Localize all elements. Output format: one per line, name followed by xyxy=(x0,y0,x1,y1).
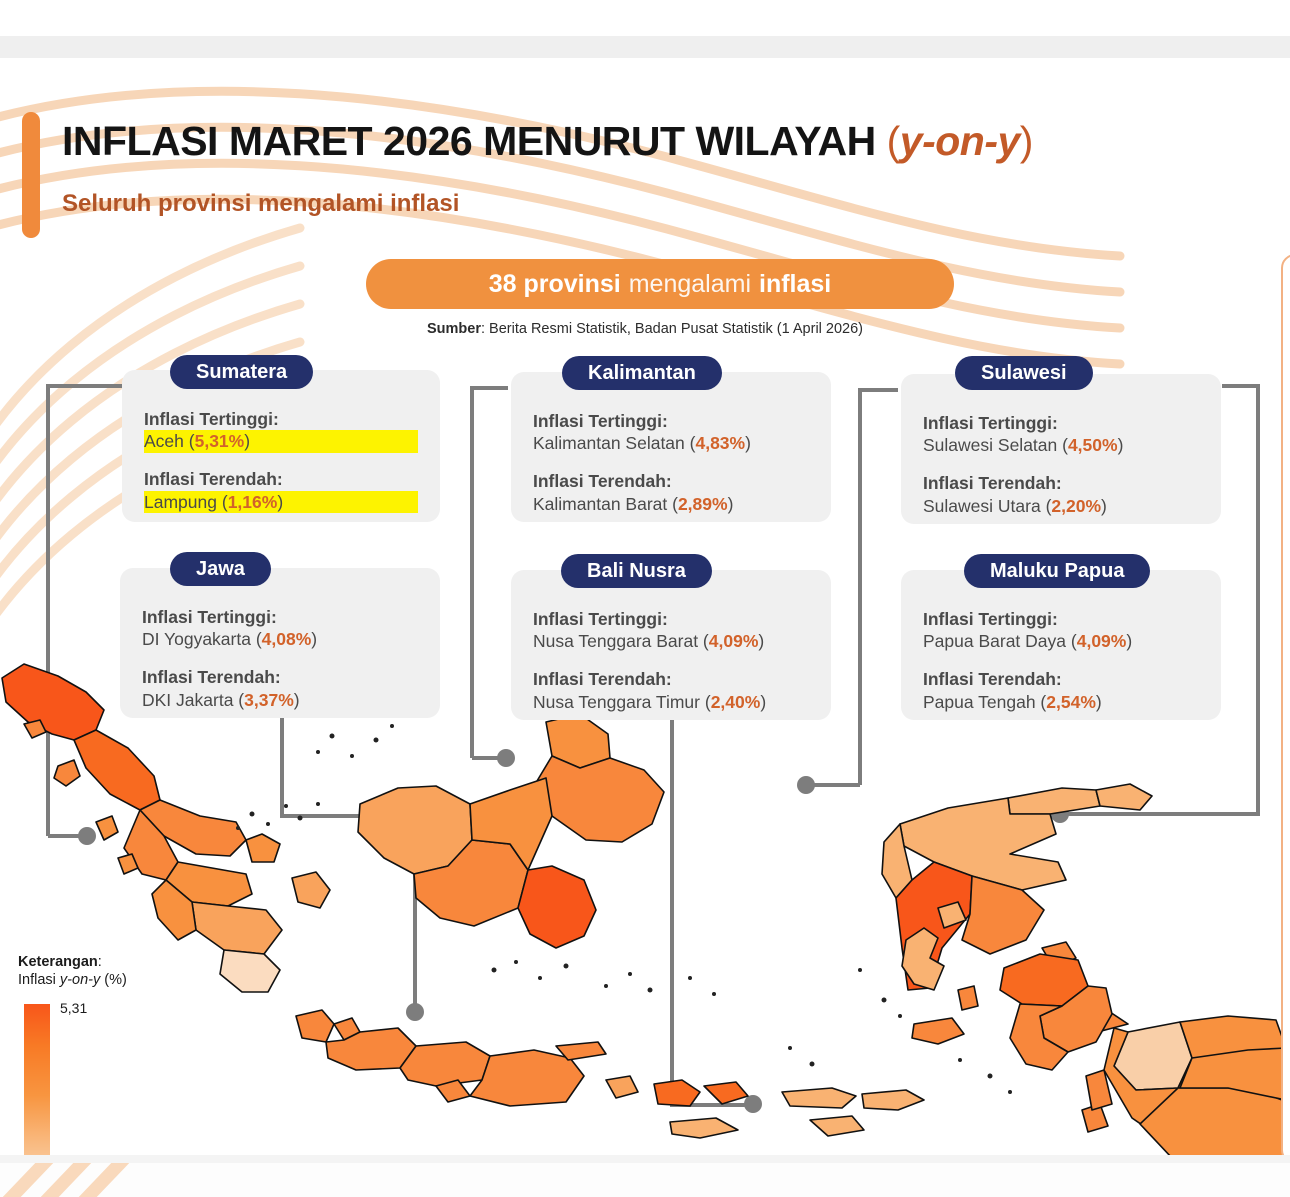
region-card-kalimantan[interactable]: Inflasi Tertinggi: Kalimantan Selatan (4… xyxy=(511,372,831,522)
sulawesi-lowest-label: Inflasi Terendah: xyxy=(923,472,1199,494)
map-province-ntt-1 xyxy=(782,1088,856,1108)
kalimantan-highest-value: Kalimantan Selatan (4,83%) xyxy=(533,432,809,455)
title-accent-bar xyxy=(22,112,40,238)
map-island-nias xyxy=(54,760,80,786)
jawa-highest-group: Inflasi Tertinggi: DI Yogyakarta (4,08%) xyxy=(142,606,418,651)
maluku-papua-lowest-number: 2,54% xyxy=(1046,692,1096,712)
legend-unit-row: Inflasi y-on-y (%) xyxy=(18,972,138,988)
legend-unit-post: (%) xyxy=(100,972,127,988)
banner-middle: mengalami xyxy=(629,270,751,299)
bali-nusra-lowest-number: 2,40% xyxy=(711,692,761,712)
region-card-sulawesi[interactable]: Inflasi Tertinggi: Sulawesi Selatan (4,5… xyxy=(901,374,1221,524)
jawa-lowest-value: DKI Jakarta (3,37%) xyxy=(142,689,418,712)
sumatera-lowest-group: Inflasi Terendah: Lampung (1,16%) xyxy=(144,468,418,513)
map-province-ntt-3 xyxy=(670,1118,738,1138)
map-province-ntt-4 xyxy=(810,1116,864,1136)
sulawesi-lowest-group: Inflasi Terendah: Sulawesi Utara (2,20%) xyxy=(923,472,1199,517)
map-province-ntb-2 xyxy=(704,1082,748,1104)
legend-title-suffix: : xyxy=(98,954,102,970)
sulawesi-lowest-province: Sulawesi Utara xyxy=(923,496,1041,516)
legend-unit-em: y-on-y xyxy=(60,972,100,988)
region-chip-sulawesi[interactable]: Sulawesi xyxy=(955,356,1093,390)
map-province-jateng xyxy=(400,1042,490,1086)
map-province-kaltim xyxy=(534,756,664,842)
map-province-gorontalo xyxy=(1008,788,1100,814)
page-subtitle: Seluruh provinsi mengalami inflasi xyxy=(62,190,459,218)
slide-canvas: INFLASI MARET 2026 MENURUT WILAYAH (y-on… xyxy=(0,58,1290,1155)
sumatera-highest-group: Inflasi Tertinggi: Aceh (5,31%) xyxy=(144,408,418,453)
kalimantan-highest-group: Inflasi Tertinggi: Kalimantan Selatan (4… xyxy=(533,410,809,455)
bali-nusra-highest-province: Nusa Tenggara Barat xyxy=(533,631,698,651)
map-province-ntt-2 xyxy=(862,1090,924,1110)
jawa-highest-label: Inflasi Tertinggi: xyxy=(142,606,418,628)
legend-colorbar xyxy=(24,1004,50,1155)
kalimantan-lowest-province: Kalimantan Barat xyxy=(533,494,667,514)
map-province-riau-kep xyxy=(246,834,280,862)
bali-nusra-lowest-group: Inflasi Terendah: Nusa Tenggara Timur (2… xyxy=(533,668,809,713)
sumatera-highest-value: Aceh (5,31%) xyxy=(144,430,418,453)
jawa-lowest-label: Inflasi Terendah: xyxy=(142,666,418,688)
map-province-banten xyxy=(296,1010,334,1042)
legend-unit-pre: Inflasi xyxy=(18,972,60,988)
kalimantan-lowest-value: Kalimantan Barat (2,89%) xyxy=(533,493,809,516)
map-province-kalsel xyxy=(518,866,596,948)
source-text: : Berita Resmi Statistik, Badan Pusat St… xyxy=(481,321,863,337)
page-title-main: INFLASI MARET 2026 MENURUT WILAYAH xyxy=(62,118,876,164)
jawa-lowest-province: DKI Jakarta xyxy=(142,690,233,710)
title-yoy: y-on-y xyxy=(900,118,1020,164)
jawa-highest-number: 4,08% xyxy=(262,629,312,649)
source-line: Sumber: Berita Resmi Statistik, Badan Pu… xyxy=(0,321,1290,337)
map-province-ntb xyxy=(654,1080,700,1106)
region-chip-sumatera-label: Sumatera xyxy=(196,361,287,384)
map-province-lampung xyxy=(220,950,280,992)
sumatera-highest-province: Aceh xyxy=(144,431,184,451)
map-legend: Keterangan: Inflasi y-on-y (%) 5,31 1,16 xyxy=(18,954,138,1155)
sulawesi-lowest-number: 2,20% xyxy=(1051,496,1101,516)
map-province-sumut xyxy=(74,730,160,810)
region-chip-jawa-label: Jawa xyxy=(196,558,245,581)
kalimantan-highest-label: Inflasi Tertinggi: xyxy=(533,410,809,432)
maluku-papua-highest-value: Papua Barat Daya (4,09%) xyxy=(923,630,1199,653)
title-paren-open: ( xyxy=(887,118,900,164)
maluku-papua-highest-province: Papua Barat Daya xyxy=(923,631,1066,651)
maluku-papua-highest-group: Inflasi Tertinggi: Papua Barat Daya (4,0… xyxy=(923,608,1199,653)
kalimantan-lowest-label: Inflasi Terendah: xyxy=(533,470,809,492)
bali-nusra-lowest-province: Nusa Tenggara Timur xyxy=(533,692,700,712)
bali-nusra-highest-label: Inflasi Tertinggi: xyxy=(533,608,809,630)
legend-title: Keterangan xyxy=(18,954,98,970)
region-chip-kalimantan[interactable]: Kalimantan xyxy=(562,356,722,390)
sumatera-highest-label: Inflasi Tertinggi: xyxy=(144,408,418,430)
map-province-selayar xyxy=(958,986,978,1010)
maluku-papua-lowest-value: Papua Tengah (2,54%) xyxy=(923,691,1199,714)
sulawesi-highest-group: Inflasi Tertinggi: Sulawesi Selatan (4,5… xyxy=(923,412,1199,457)
slide-seam xyxy=(0,1155,1290,1163)
region-card-maluku-papua[interactable]: Inflasi Tertinggi: Papua Barat Daya (4,0… xyxy=(901,570,1221,720)
jawa-highest-province: DI Yogyakarta xyxy=(142,629,251,649)
banner-emphasis: inflasi xyxy=(759,270,831,299)
region-chip-maluku-papua[interactable]: Maluku Papua xyxy=(964,554,1150,588)
right-side-panel xyxy=(1281,254,1290,1155)
maluku-papua-highest-label: Inflasi Tertinggi: xyxy=(923,608,1199,630)
legend-max-value: 5,31 xyxy=(60,1000,87,1016)
title-paren-close: ) xyxy=(1020,118,1033,164)
sumatera-lowest-number: 1,16% xyxy=(228,492,278,512)
maluku-papua-lowest-label: Inflasi Terendah: xyxy=(923,668,1199,690)
kalimantan-lowest-group: Inflasi Terendah: Kalimantan Barat (2,89… xyxy=(533,470,809,515)
legend-title-row: Keterangan: xyxy=(18,954,138,970)
map-island-mentawai-1 xyxy=(96,816,118,840)
jawa-lowest-group: Inflasi Terendah: DKI Jakarta (3,37%) xyxy=(142,666,418,711)
sumatera-lowest-value: Lampung (1,16%) xyxy=(144,491,418,514)
map-province-babel xyxy=(292,872,330,908)
map-province-aceh xyxy=(2,664,104,740)
region-chip-jawa[interactable]: Jawa xyxy=(170,552,271,586)
sulawesi-highest-label: Inflasi Tertinggi: xyxy=(923,412,1199,434)
sulawesi-highest-province: Sulawesi Selatan xyxy=(923,435,1057,455)
bali-nusra-lowest-value: Nusa Tenggara Timur (2,40%) xyxy=(533,691,809,714)
kalimantan-highest-province: Kalimantan Selatan xyxy=(533,433,685,453)
bali-nusra-lowest-label: Inflasi Terendah: xyxy=(533,668,809,690)
kalimantan-lowest-number: 2,89% xyxy=(678,494,728,514)
bali-nusra-highest-value: Nusa Tenggara Barat (4,09%) xyxy=(533,630,809,653)
sulawesi-lowest-value: Sulawesi Utara (2,20%) xyxy=(923,495,1199,518)
banner-count: 38 provinsi xyxy=(489,270,621,299)
region-chip-bali-nusra[interactable]: Bali Nusra xyxy=(561,554,712,588)
map-province-bali xyxy=(606,1076,638,1098)
region-chip-bali-nusra-label: Bali Nusra xyxy=(587,560,686,583)
region-card-bali-nusra[interactable]: Inflasi Tertinggi: Nusa Tenggara Barat (… xyxy=(511,570,831,720)
region-chip-sumatera[interactable]: Sumatera xyxy=(170,355,313,389)
slide-gutter-strip xyxy=(0,36,1290,58)
map-province-sulut xyxy=(1096,784,1152,810)
region-chip-maluku-papua-label: Maluku Papua xyxy=(990,560,1124,583)
sulawesi-highest-number: 4,50% xyxy=(1068,435,1118,455)
region-card-sumatera[interactable]: Inflasi Tertinggi: Aceh (5,31%) Inflasi … xyxy=(122,370,440,522)
sumatera-lowest-province: Lampung xyxy=(144,492,217,512)
region-chip-sulawesi-label: Sulawesi xyxy=(981,362,1067,385)
bali-nusra-highest-number: 4,09% xyxy=(709,631,759,651)
province-count-banner: 38 provinsi mengalami inflasi xyxy=(366,259,954,309)
maluku-papua-highest-number: 4,09% xyxy=(1077,631,1127,651)
infographic-slide: INFLASI MARET 2026 MENURUT WILAYAH (y-on… xyxy=(0,0,1290,1197)
legend-colorbar-wrap: 5,31 1,16 xyxy=(18,1004,138,1155)
map-province-sumsel xyxy=(192,902,282,954)
jawa-highest-value: DI Yogyakarta (4,08%) xyxy=(142,628,418,651)
maluku-papua-lowest-group: Inflasi Terendah: Papua Tengah (2,54%) xyxy=(923,668,1199,713)
bali-nusra-highest-group: Inflasi Tertinggi: Nusa Tenggara Barat (… xyxy=(533,608,809,653)
maluku-papua-lowest-province: Papua Tengah xyxy=(923,692,1036,712)
slide-gutter-top xyxy=(0,0,1290,36)
sumatera-highest-number: 5,31% xyxy=(195,431,245,451)
sumatera-lowest-label: Inflasi Terendah: xyxy=(144,468,418,490)
decorative-stripes-bottom xyxy=(0,1163,220,1197)
source-label: Sumber xyxy=(427,321,481,337)
sulawesi-highest-value: Sulawesi Selatan (4,50%) xyxy=(923,434,1199,457)
map-province-buru xyxy=(912,1018,964,1044)
kalimantan-highest-number: 4,83% xyxy=(695,433,745,453)
jawa-lowest-number: 3,37% xyxy=(244,690,294,710)
region-chip-kalimantan-label: Kalimantan xyxy=(588,362,696,385)
region-card-jawa[interactable]: Inflasi Tertinggi: DI Yogyakarta (4,08%)… xyxy=(120,568,440,718)
page-title: INFLASI MARET 2026 MENURUT WILAYAH (y-on… xyxy=(62,118,1033,165)
